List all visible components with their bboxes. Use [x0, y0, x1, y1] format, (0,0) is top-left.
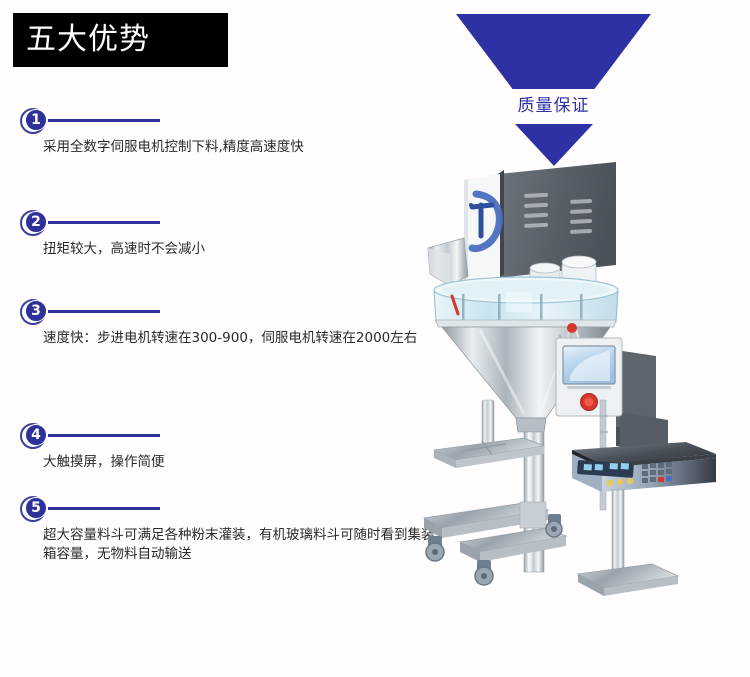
advantage-text-5: 超大容量料斗可满足各种粉末灌装，有机玻璃料斗可随时看到集装箱容量，无物料自动输送	[43, 526, 435, 564]
advantage-marker-5: 5	[20, 494, 170, 524]
advantage-marker-4: 4	[20, 421, 170, 451]
cabinet-group	[498, 162, 616, 278]
advantage-text-3: 速度快：步进电机转速在300-900，伺服电机转速在2000左右	[43, 329, 435, 348]
marker-rule-line	[48, 119, 160, 122]
marker-rule-line	[48, 507, 160, 510]
advantage-number-2: 2	[25, 211, 47, 233]
quality-assurance-label: 质量保证	[440, 94, 667, 118]
product-advantages-page: 五大优势 1 采用全数字伺服电机控制下料,精度高速度快 2 扭矩较大，高速时不会…	[0, 0, 750, 677]
advantage-number-4: 4	[25, 424, 47, 446]
acrylic-hopper	[434, 277, 618, 327]
marker-rule-line	[48, 434, 160, 437]
brand-logo-panel	[464, 174, 500, 286]
advantage-text-2: 扭矩较大，高速时不会减小	[43, 240, 435, 259]
funnel-trapezoid-icon	[456, 14, 651, 89]
advantages-list: 1 采用全数字伺服电机控制下料,精度高速度快 2 扭矩较大，高速时不会减小 3 …	[0, 0, 450, 677]
marker-rule-line	[48, 310, 160, 313]
caster-base	[424, 502, 566, 585]
caster-wheel	[546, 514, 562, 537]
advantage-marker-1: 1	[20, 106, 170, 136]
feed-chute	[428, 238, 468, 286]
quality-assurance-badge: 质量保证	[440, 0, 700, 175]
advantage-number-1: 1	[25, 109, 47, 131]
marker-rule-line	[48, 221, 160, 224]
weighing-scale	[572, 442, 716, 596]
caster-wheel	[475, 560, 493, 585]
advantage-number-3: 3	[25, 300, 47, 322]
advantage-number-5: 5	[25, 497, 47, 519]
machine-photo	[420, 150, 750, 630]
advantage-marker-3: 3	[20, 297, 170, 327]
advantage-marker-2: 2	[20, 208, 170, 238]
caster-wheel	[426, 536, 444, 561]
advantage-text-4: 大触摸屏，操作简便	[43, 453, 435, 472]
advantage-text-1: 采用全数字伺服电机控制下料,精度高速度快	[43, 138, 435, 157]
